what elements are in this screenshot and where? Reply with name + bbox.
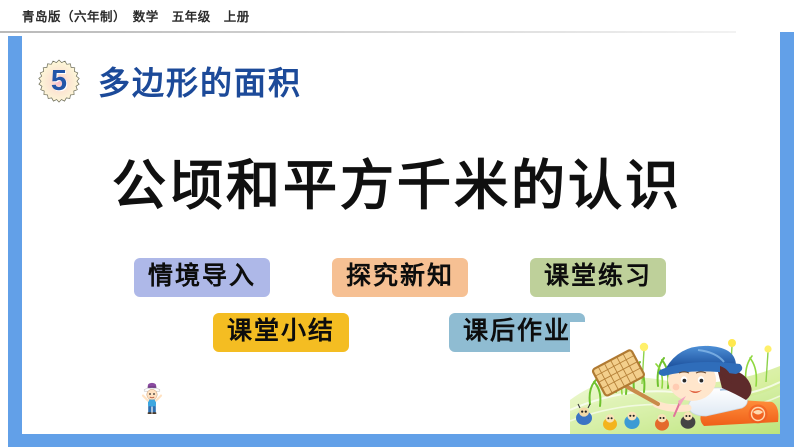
boy-with-butterfly-net-illustration (570, 322, 780, 434)
nav-button-class-summary[interactable]: 课堂小结 (213, 313, 349, 352)
cartoon-boy-sprite-icon (138, 381, 166, 415)
slide-root: 青岛版（六年制） 数学 五年级 上册 5 多边形的面积 公顷和平方千米的 (0, 0, 794, 447)
frame-left-bar (8, 36, 22, 441)
chapter-title: 多边形的面积 (98, 58, 302, 104)
chapter-heading: 5 多边形的面积 (30, 52, 302, 110)
nav-row-1: 情境导入 探究新知 课堂练习 (0, 258, 794, 297)
breadcrumb: 青岛版（六年制） 数学 五年级 上册 (22, 6, 250, 25)
chapter-number: 5 (30, 52, 88, 110)
nav-button-situation-intro[interactable]: 情境导入 (134, 258, 270, 297)
header-divider (0, 31, 736, 33)
chapter-number-badge: 5 (30, 52, 88, 110)
header-strip: 青岛版（六年制） 数学 五年级 上册 (0, 0, 794, 32)
page-title: 公顷和平方千米的认识 (0, 141, 794, 220)
nav-button-homework[interactable]: 课后作业 (449, 313, 585, 352)
nav-button-explore-new-knowledge[interactable]: 探究新知 (332, 258, 468, 297)
nav-button-class-practice[interactable]: 课堂练习 (530, 258, 666, 297)
frame-bottom-bar (8, 434, 794, 447)
frame-right-bar (780, 1, 794, 447)
